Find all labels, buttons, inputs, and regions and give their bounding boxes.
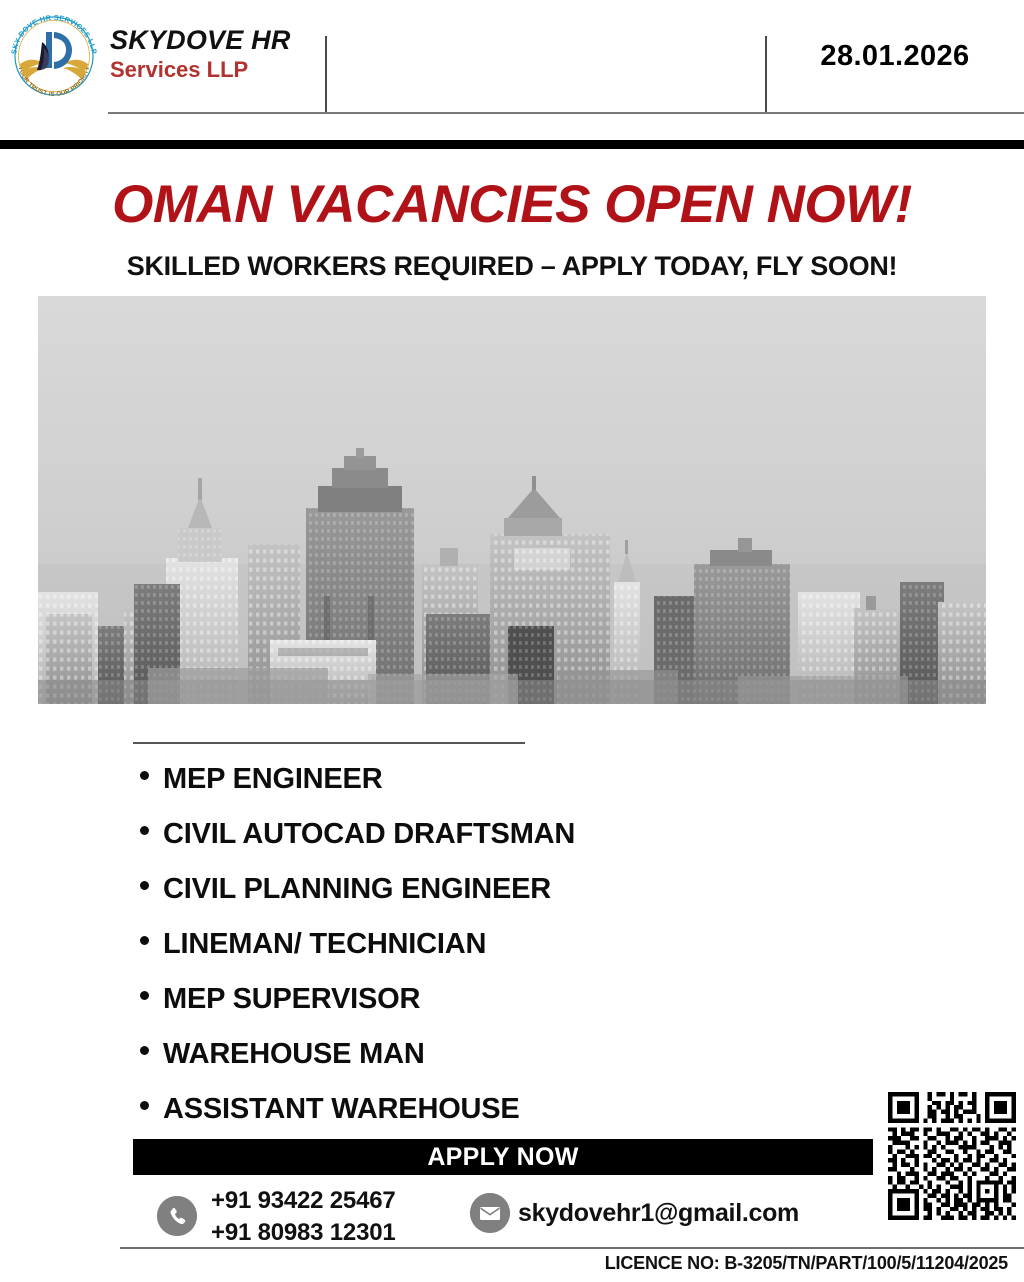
page-subtitle: SKILLED WORKERS REQUIRED – APPLY TODAY, …: [0, 253, 1024, 280]
brand-name-line1: SKYDOVE HR: [110, 26, 291, 55]
job-title: CIVIL PLANNING ENGINEER: [163, 862, 551, 917]
header-divider-left: [325, 36, 327, 114]
list-item: CIVIL PLANNING ENGINEER: [140, 862, 900, 917]
contact-block: +91 93422 25467 +91 80983 12301 skydoveh…: [133, 1185, 893, 1247]
list-item: LINEMAN/ TECHNICIAN: [140, 917, 900, 972]
header-bottom-rule: [108, 112, 1024, 114]
list-item: CIVIL AUTOCAD DRAFTSMAN: [140, 807, 900, 862]
bullet-icon: [140, 826, 149, 835]
job-title: LINEMAN/ TECHNICIAN: [163, 917, 486, 972]
qr-code-icon[interactable]: [888, 1092, 1016, 1220]
page-title: OMAN VACANCIES OPEN NOW!: [0, 178, 1024, 231]
company-logo-icon: SKY DOVE HR SERVICES LLP YOUR TRUST IS O…: [4, 6, 104, 106]
phone-numbers[interactable]: +91 93422 25467 +91 80983 12301: [211, 1185, 396, 1249]
job-list: MEP ENGINEER CIVIL AUTOCAD DRAFTSMAN CIV…: [140, 752, 900, 1137]
job-title: MEP ENGINEER: [163, 752, 382, 807]
poster-date: 28.01.2026: [766, 40, 1024, 73]
bullet-icon: [140, 881, 149, 890]
bullet-icon: [140, 1101, 149, 1110]
poster-page: SKY DOVE HR SERVICES LLP YOUR TRUST IS O…: [0, 0, 1024, 1282]
licence-number: LICENCE NO: B-3205/TN/PART/100/5/11204/2…: [0, 1253, 1008, 1274]
apply-now-button[interactable]: APPLY NOW: [133, 1139, 873, 1175]
bullet-icon: [140, 936, 149, 945]
list-item: MEP ENGINEER: [140, 752, 900, 807]
bullet-icon: [140, 991, 149, 1000]
joblist-top-rule: [133, 742, 525, 744]
phone-number-2[interactable]: +91 80983 12301: [211, 1217, 396, 1249]
brand-block: SKYDOVE HR Services LLP: [110, 26, 291, 83]
job-title: CIVIL AUTOCAD DRAFTSMAN: [163, 807, 575, 862]
list-item: MEP SUPERVISOR: [140, 972, 900, 1027]
job-title: MEP SUPERVISOR: [163, 972, 420, 1027]
bullet-icon: [140, 771, 149, 780]
bullet-icon: [140, 1046, 149, 1055]
header-black-bar: [0, 140, 1024, 149]
email-address[interactable]: skydovehr1@gmail.com: [518, 1197, 799, 1229]
header: SKY DOVE HR SERVICES LLP YOUR TRUST IS O…: [0, 0, 1024, 118]
brand-name-line2: Services LLP: [110, 58, 291, 83]
phone-icon: [157, 1196, 197, 1236]
job-title: ASSISTANT WAREHOUSE: [163, 1082, 520, 1137]
list-item: ASSISTANT WAREHOUSE: [140, 1082, 900, 1137]
job-title: WAREHOUSE MAN: [163, 1027, 425, 1082]
list-item: WAREHOUSE MAN: [140, 1027, 900, 1082]
envelope-icon: [470, 1193, 510, 1233]
footer-rule: [120, 1247, 1024, 1249]
city-skyline-image: [38, 296, 986, 704]
phone-number-1[interactable]: +91 93422 25467: [211, 1185, 396, 1217]
